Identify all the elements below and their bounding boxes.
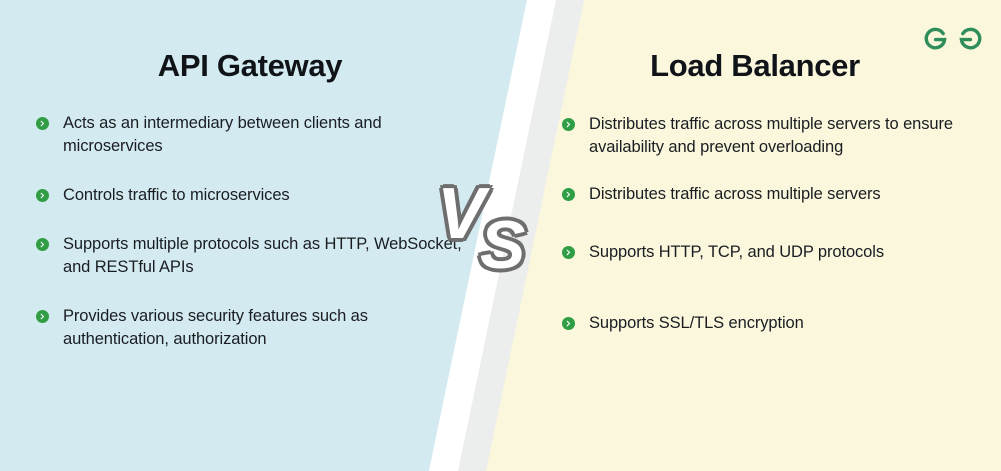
chevron-right-bullet-icon bbox=[36, 310, 49, 323]
list-item-label: Supports multiple protocols such as HTTP… bbox=[63, 233, 476, 279]
list-item-label: Controls traffic to microservices bbox=[63, 184, 290, 207]
list-item: Controls traffic to microservices bbox=[36, 184, 476, 207]
chevron-right-bullet-icon bbox=[562, 118, 575, 131]
chevron-right-bullet-icon bbox=[562, 317, 575, 330]
list-item-label: Supports SSL/TLS encryption bbox=[589, 312, 804, 335]
list-item: Supports multiple protocols such as HTTP… bbox=[36, 233, 476, 279]
comparison-infographic: API Gateway Acts as an intermediary betw… bbox=[0, 0, 1001, 471]
left-panel-title: API Gateway bbox=[0, 48, 500, 84]
list-item-label: Distributes traffic across multiple serv… bbox=[589, 183, 881, 206]
list-item: Acts as an intermediary between clients … bbox=[36, 112, 476, 158]
geeksforgeeks-logo-icon bbox=[923, 22, 983, 56]
chevron-right-bullet-icon bbox=[36, 189, 49, 202]
list-item-label: Distributes traffic across multiple serv… bbox=[589, 113, 987, 159]
list-item: Supports SSL/TLS encryption bbox=[562, 312, 987, 335]
list-item-label: Provides various security features such … bbox=[63, 305, 476, 351]
chevron-right-bullet-icon bbox=[36, 238, 49, 251]
chevron-right-bullet-icon bbox=[36, 117, 49, 130]
right-panel-title: Load Balancer bbox=[545, 48, 965, 84]
chevron-right-bullet-icon bbox=[562, 246, 575, 259]
list-item-label: Supports HTTP, TCP, and UDP protocols bbox=[589, 241, 884, 264]
list-item: Supports HTTP, TCP, and UDP protocols bbox=[562, 241, 987, 264]
list-item-label: Acts as an intermediary between clients … bbox=[63, 112, 476, 158]
list-item: Distributes traffic across multiple serv… bbox=[562, 113, 987, 159]
list-item: Provides various security features such … bbox=[36, 305, 476, 351]
right-panel-bullet-list: Distributes traffic across multiple serv… bbox=[562, 113, 987, 359]
left-panel-bullet-list: Acts as an intermediary between clients … bbox=[36, 112, 476, 377]
list-item: Distributes traffic across multiple serv… bbox=[562, 183, 987, 206]
chevron-right-bullet-icon bbox=[562, 188, 575, 201]
